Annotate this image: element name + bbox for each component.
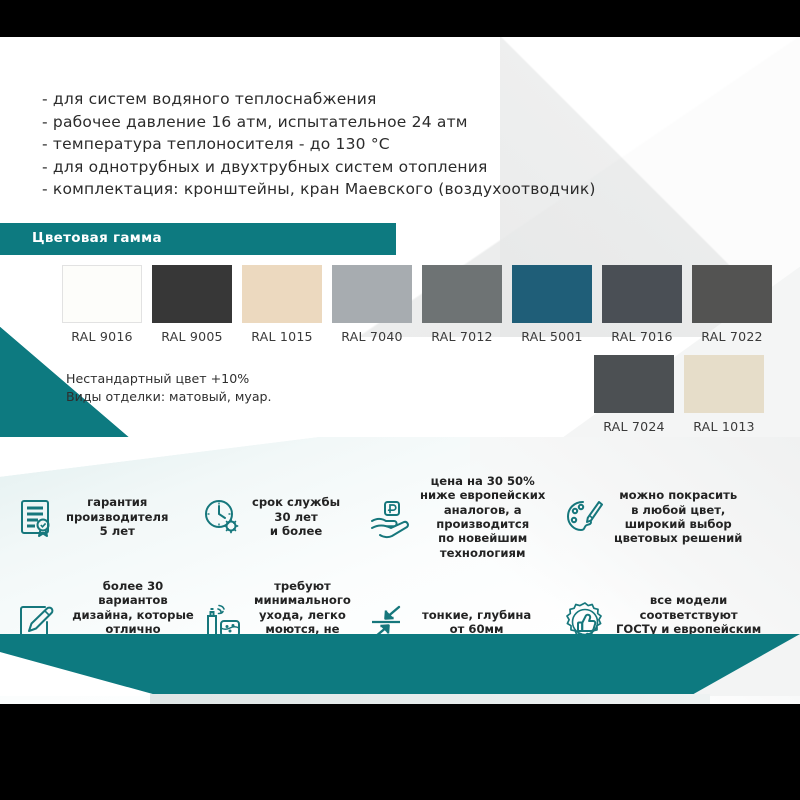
color-swatch[interactable]: RAL 9005 bbox=[152, 265, 232, 344]
feature-text: срок службы30 лети более bbox=[252, 495, 340, 538]
certificate-icon bbox=[14, 495, 58, 539]
clock-gear-icon bbox=[200, 495, 244, 539]
feature-repaintable[interactable]: можно покраситьв любой цвет,широкий выбо… bbox=[562, 488, 794, 546]
feature-price[interactable]: цена на 30 50%ниже европейскиханалогов, … bbox=[366, 474, 562, 560]
color-swatch[interactable]: RAL 7016 bbox=[602, 265, 682, 344]
color-chip bbox=[242, 265, 322, 323]
color-label: RAL 5001 bbox=[512, 329, 592, 344]
color-chip bbox=[684, 355, 764, 413]
spec-item: - комплектация: кронштейны, кран Маевско… bbox=[42, 178, 642, 201]
note-custom-color: Нестандартный цвет +10% bbox=[66, 370, 272, 388]
slide-background: - для систем водяного теплоснабжения - р… bbox=[0, 37, 800, 704]
feature-text: можно покраситьв любой цвет,широкий выбо… bbox=[614, 488, 742, 546]
color-notes: Нестандартный цвет +10% Виды отделки: ма… bbox=[66, 370, 272, 406]
color-gamma-title: Цветовая гамма bbox=[32, 230, 162, 246]
hand-ruble-icon bbox=[366, 495, 412, 539]
feature-warranty[interactable]: гарантияпроизводителя5 лет bbox=[14, 495, 200, 539]
color-label: RAL 1013 bbox=[684, 419, 764, 434]
color-gamma-header: Цветовая гамма bbox=[0, 223, 396, 255]
color-chip bbox=[602, 265, 682, 323]
color-label: RAL 7022 bbox=[692, 329, 772, 344]
color-swatch[interactable]: RAL 5001 bbox=[512, 265, 592, 344]
color-swatch[interactable]: RAL 1013 bbox=[684, 355, 764, 434]
color-swatch[interactable]: RAL 7024 bbox=[594, 355, 674, 434]
color-swatch[interactable]: RAL 1015 bbox=[242, 265, 322, 344]
color-chip bbox=[152, 265, 232, 323]
color-chip bbox=[62, 265, 142, 323]
features-row-1: гарантияпроизводителя5 лет bbox=[14, 462, 794, 572]
decor-ribbon-shadow bbox=[150, 694, 710, 704]
color-chip bbox=[692, 265, 772, 323]
palette-brush-icon bbox=[562, 495, 606, 539]
color-label: RAL 7040 bbox=[332, 329, 412, 344]
feature-service-life[interactable]: срок службы30 лети более bbox=[200, 495, 366, 539]
spec-item: - для однотрубных и двухтрубных систем о… bbox=[42, 156, 642, 179]
spec-item: - рабочее давление 16 атм, испытательное… bbox=[42, 111, 642, 134]
color-label: RAL 9005 bbox=[152, 329, 232, 344]
color-swatch[interactable]: RAL 7012 bbox=[422, 265, 502, 344]
spec-item: - для систем водяного теплоснабжения bbox=[42, 88, 642, 111]
spec-item: - температура теплоносителя - до 130 °C bbox=[42, 133, 642, 156]
color-chip bbox=[512, 265, 592, 323]
color-label: RAL 7016 bbox=[602, 329, 682, 344]
color-swatch-row-primary: RAL 9016 RAL 9005 RAL 1015 RAL 7040 RAL … bbox=[62, 265, 772, 344]
color-chip bbox=[332, 265, 412, 323]
specs-list: - для систем водяного теплоснабжения - р… bbox=[42, 88, 642, 201]
note-finish-types: Виды отделки: матовый, муар. bbox=[66, 388, 272, 406]
color-chip bbox=[422, 265, 502, 323]
color-label: RAL 7024 bbox=[594, 419, 674, 434]
feature-text: цена на 30 50%ниже европейскиханалогов, … bbox=[420, 474, 545, 560]
color-swatch[interactable]: RAL 7022 bbox=[692, 265, 772, 344]
slide-canvas: - для систем водяного теплоснабжения - р… bbox=[0, 0, 800, 800]
color-swatch[interactable]: RAL 9016 bbox=[62, 265, 142, 344]
color-chip bbox=[594, 355, 674, 413]
feature-text: гарантияпроизводителя5 лет bbox=[66, 495, 168, 538]
color-swatch[interactable]: RAL 7040 bbox=[332, 265, 412, 344]
color-label: RAL 1015 bbox=[242, 329, 322, 344]
color-label: RAL 9016 bbox=[62, 329, 142, 344]
decor-bottom-ribbon bbox=[0, 604, 800, 704]
color-swatch-row-secondary: RAL 7024 RAL 1013 bbox=[594, 355, 764, 434]
color-label: RAL 7012 bbox=[422, 329, 502, 344]
